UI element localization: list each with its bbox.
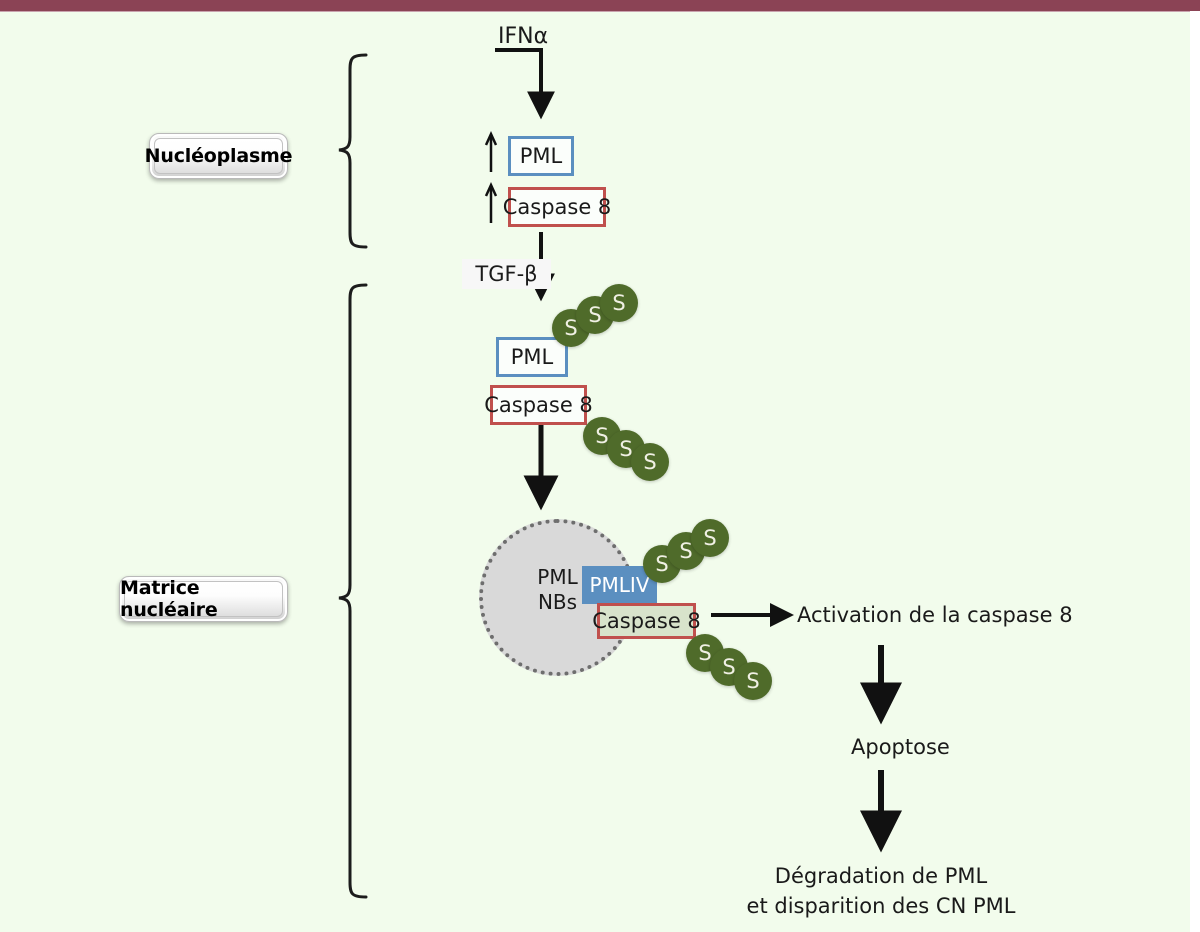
sumo-s-circle: S xyxy=(734,662,772,700)
stimulus-label-ifna: IFNα xyxy=(498,24,548,49)
outcome-apoptose: Apoptose xyxy=(851,735,950,759)
compartment-label-nucleoplasme: Nucléoplasme xyxy=(149,133,288,179)
caspase8-box-matrix: Caspase 8 xyxy=(490,385,587,425)
tgf-beta-label: TGF-β xyxy=(462,259,551,289)
pml-box-matrix: PML xyxy=(496,337,568,377)
outcome-degradation-line1: Dégradation de PML xyxy=(731,861,1031,891)
figure-canvas: Nucléoplasme Matrice nucléaire IFNα PML … xyxy=(0,0,1200,932)
pml-box-nucleoplasm: PML xyxy=(508,136,574,176)
sumo-s-circle: S xyxy=(631,443,669,481)
right-margin xyxy=(1190,11,1200,932)
outcome-degradation: Dégradation de PML et disparition des CN… xyxy=(731,861,1031,922)
caspase8-box-bound: Caspase 8 xyxy=(597,603,696,639)
sumo-s-circle: S xyxy=(600,284,638,322)
top-accent-bar xyxy=(0,0,1200,12)
compartment-label-text: Nucléoplasme xyxy=(145,145,293,167)
compartment-label-matrice-nucleaire: Matrice nucléaire xyxy=(119,576,288,622)
sumo-s-circle: S xyxy=(691,519,729,557)
caspase8-box-nucleoplasm: Caspase 8 xyxy=(508,187,606,227)
compartment-label-text: Matrice nucléaire xyxy=(120,577,287,621)
outcome-activation-caspase8: Activation de la caspase 8 xyxy=(797,603,1073,627)
outcome-degradation-line2: et disparition des CN PML xyxy=(731,891,1031,921)
